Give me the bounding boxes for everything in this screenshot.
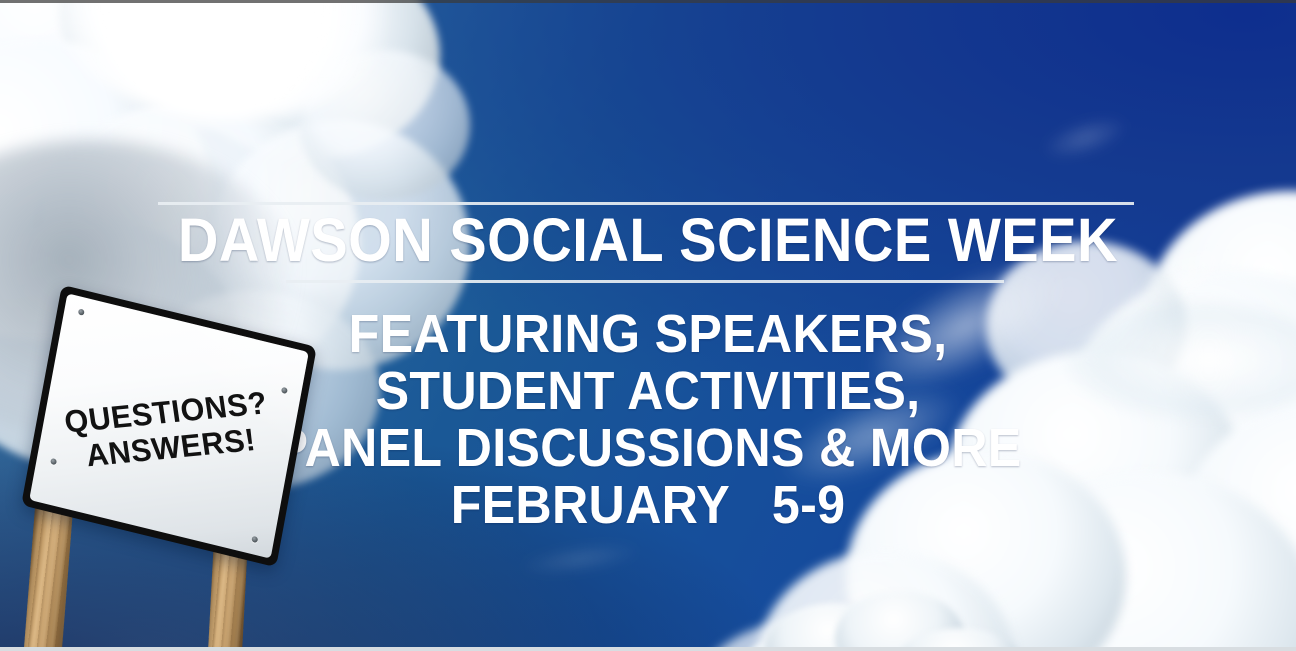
- sign-bolt-icon: [281, 387, 288, 394]
- divider-top: [158, 202, 1134, 205]
- sign-bolt-icon: [251, 536, 258, 543]
- top-edge-strip: [0, 0, 1296, 3]
- sign-post-left: [24, 495, 74, 651]
- poster-banner: DAWSON SOCIAL SCIENCE WEEK FEATURING SPE…: [0, 0, 1296, 651]
- page-title: DAWSON SOCIAL SCIENCE WEEK: [52, 208, 1244, 272]
- sign-bolt-icon: [50, 458, 57, 465]
- cloud-bottom-center: [735, 583, 1015, 651]
- sign-text: QUESTIONS? ANSWERS!: [62, 385, 274, 475]
- divider-bottom: [286, 280, 1004, 283]
- road-sign: QUESTIONS? ANSWERS!: [0, 300, 330, 651]
- sign-bolt-icon: [78, 308, 85, 315]
- bottom-edge-strip: [0, 647, 1296, 651]
